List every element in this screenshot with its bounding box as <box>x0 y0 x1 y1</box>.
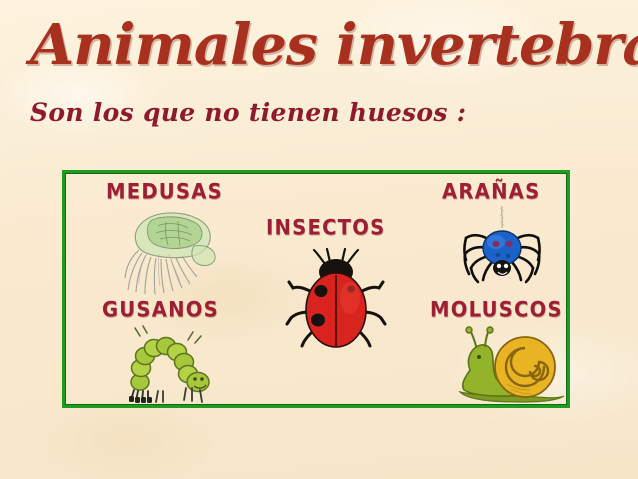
slide-canvas: Animales invertebrados: Son los que no t… <box>0 0 638 479</box>
panel-item-gusanos-label: GUSANOS <box>102 298 219 322</box>
panel-item-moluscos-label: MOLUSCOS <box>430 298 563 322</box>
panel-item-aranas: ARAÑAS <box>432 180 572 298</box>
panel-item-aranas-label: ARAÑAS <box>442 180 540 204</box>
panel-item-insectos: INSECTOS <box>262 216 422 376</box>
invertebrates-panel: MEDUSAS <box>62 170 570 408</box>
panel-item-moluscos: MOLUSCOS <box>424 298 574 408</box>
panel-item-gusanos: GUSANOS <box>94 298 274 408</box>
page-title: Animales invertebrados: <box>30 12 632 78</box>
panel-item-medusas-label: MEDUSAS <box>106 180 223 204</box>
panel-item-insectos-label: INSECTOS <box>266 216 385 240</box>
caterpillar-icon <box>122 324 230 406</box>
spider-icon <box>456 206 548 290</box>
snail-icon <box>452 326 570 406</box>
jellyfish-icon <box>122 206 220 298</box>
ladybug-icon <box>284 244 388 354</box>
page-subtitle: Son los que no tienen huesos : <box>30 98 466 128</box>
panel-item-medusas: MEDUSAS <box>94 180 274 298</box>
